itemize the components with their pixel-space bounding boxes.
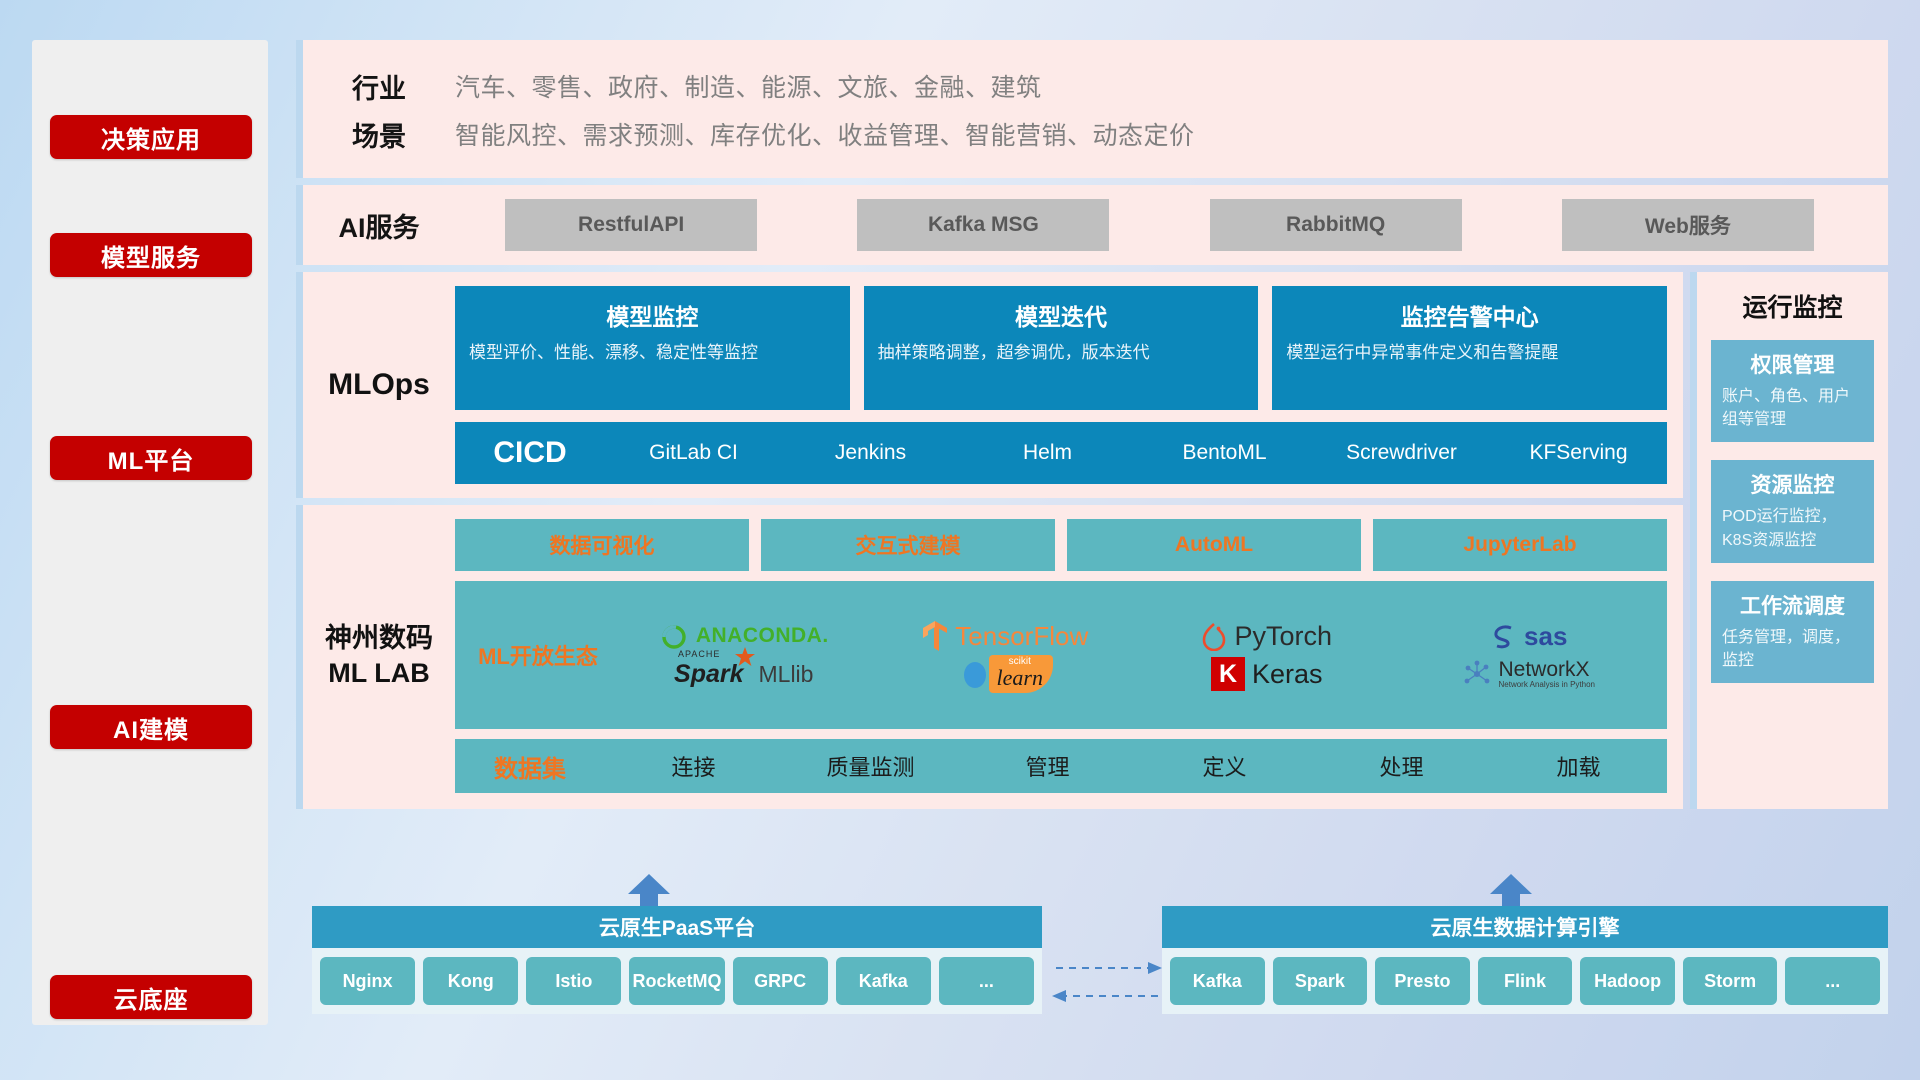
ai-service-chip-kafka-msg[interactable]: Kafka MSG bbox=[857, 199, 1109, 251]
ai-service-label: AI服务 bbox=[303, 206, 455, 245]
data-pill-flink[interactable]: Flink bbox=[1478, 957, 1573, 1005]
run-monitor-title: 运行监控 bbox=[1711, 288, 1874, 324]
platform-row: MLOps 模型监控 模型评价、性能、漂移、稳定性等监控 模型迭代 抽样策略调整… bbox=[296, 272, 1888, 809]
scenario-row: 场景 智能风控、需求预测、库存优化、收益管理、智能营销、动态定价 bbox=[303, 110, 1888, 158]
mlops-card-model-monitoring[interactable]: 模型监控 模型评价、性能、漂移、稳定性等监控 bbox=[455, 286, 850, 410]
data-pill-more[interactable]: ... bbox=[1785, 957, 1880, 1005]
scenario-label: 场景 bbox=[303, 115, 455, 154]
keras-logo: K Keras bbox=[1136, 657, 1398, 691]
tensorflow-mark-icon bbox=[922, 620, 948, 652]
card-title: 权限管理 bbox=[1722, 349, 1863, 379]
cicd-title: CICD bbox=[455, 436, 605, 470]
paas-pill-rocketmq[interactable]: RocketMQ bbox=[629, 957, 724, 1005]
industry-scenario-band: 行业 汽车、零售、政府、制造、能源、文旅、金融、建筑 场景 智能风控、需求预测、… bbox=[296, 40, 1888, 178]
card-desc: POD运行监控，K8S资源监控 bbox=[1722, 505, 1863, 551]
ml-open-ecosystem-block: ML开放生态 ANACONDA. bbox=[455, 581, 1667, 729]
rail-chip-ai-modeling[interactable]: AI建模 bbox=[50, 705, 252, 749]
dataset-item-process[interactable]: 处理 bbox=[1313, 750, 1490, 782]
rail-chip-label: AI建模 bbox=[113, 710, 189, 745]
pytorch-logo: PyTorch bbox=[1136, 621, 1398, 652]
card-title: 模型监控 bbox=[469, 298, 836, 332]
rail-chip-label: 决策应用 bbox=[101, 120, 201, 155]
ai-service-chip-list: RestfulAPI Kafka MSG RabbitMQ Web服务 bbox=[455, 199, 1888, 251]
pytorch-flame-icon bbox=[1201, 621, 1227, 651]
rail-chip-decision[interactable]: 决策应用 bbox=[50, 115, 252, 159]
cicd-item-jenkins[interactable]: Jenkins bbox=[782, 441, 959, 465]
ai-service-chip-rabbitmq[interactable]: RabbitMQ bbox=[1210, 199, 1462, 251]
networkx-label: NetworkX bbox=[1499, 659, 1596, 681]
tool-chip-interactive-modeling[interactable]: 交互式建模 bbox=[761, 519, 1055, 571]
ml-open-ecosystem-label: ML开放生态 bbox=[463, 639, 613, 671]
cicd-item-gitlab-ci[interactable]: GitLab CI bbox=[605, 441, 782, 465]
spark-apache-label: APACHE bbox=[678, 649, 720, 659]
rail-chip-ml-platform[interactable]: ML平台 bbox=[50, 436, 252, 480]
learn-label: learn bbox=[997, 667, 1043, 689]
mlops-card-alert-center[interactable]: 监控告警中心 模型运行中异常事件定义和告警提醒 bbox=[1272, 286, 1667, 410]
data-engine-pill-list: Kafka Spark Presto Flink Hadoop Storm ..… bbox=[1162, 948, 1888, 1014]
spark-star-icon bbox=[734, 646, 756, 668]
tool-chip-list: 数据可视化 交互式建模 AutoML JupyterLab bbox=[455, 519, 1667, 571]
cicd-strip: CICD GitLab CI Jenkins Helm BentoML Scre… bbox=[455, 422, 1667, 484]
monitor-card-workflow[interactable]: 工作流调度 任务管理，调度，监控 bbox=[1711, 581, 1874, 683]
mllib-label: MLlib bbox=[759, 661, 814, 688]
dataset-item-connect[interactable]: 连接 bbox=[605, 750, 782, 782]
data-pill-spark[interactable]: Spark bbox=[1273, 957, 1368, 1005]
mlops-band: MLOps 模型监控 模型评价、性能、漂移、稳定性等监控 模型迭代 抽样策略调整… bbox=[296, 272, 1683, 498]
dataset-item-load[interactable]: 加载 bbox=[1490, 750, 1667, 782]
mlops-label: MLOps bbox=[303, 286, 455, 484]
mlops-card-list: 模型监控 模型评价、性能、漂移、稳定性等监控 模型迭代 抽样策略调整，超参调优，… bbox=[455, 286, 1667, 410]
tool-chip-automl[interactable]: AutoML bbox=[1067, 519, 1361, 571]
keras-label: Keras bbox=[1252, 659, 1323, 690]
industry-label: 行业 bbox=[303, 67, 455, 106]
tensorflow-logo: TensorFlow bbox=[875, 620, 1137, 652]
industry-row: 行业 汽车、零售、政府、制造、能源、文旅、金融、建筑 bbox=[303, 62, 1888, 110]
ai-service-chip-restfulapi[interactable]: RestfulAPI bbox=[505, 199, 757, 251]
data-engine-title: 云原生数据计算引擎 bbox=[1162, 906, 1888, 948]
networkx-tagline: Network Analysis in Python bbox=[1499, 681, 1596, 689]
bidirectional-dashed-connector bbox=[1052, 956, 1162, 1008]
card-desc: 账户、角色、用户组等管理 bbox=[1722, 385, 1863, 431]
paas-pill-grpc[interactable]: GRPC bbox=[733, 957, 828, 1005]
networkx-logo: NetworkX Network Analysis in Python bbox=[1398, 659, 1660, 689]
card-title: 模型迭代 bbox=[878, 298, 1245, 332]
sas-swirl-icon bbox=[1489, 622, 1517, 650]
paas-pill-nginx[interactable]: Nginx bbox=[320, 957, 415, 1005]
dataset-strip: 数据集 连接 质量监测 管理 定义 处理 加载 bbox=[455, 739, 1667, 793]
pytorch-label: PyTorch bbox=[1234, 621, 1332, 652]
cloud-native-paas-group: 云原生PaaS平台 Nginx Kong Istio RocketMQ GRPC… bbox=[312, 906, 1042, 1014]
dataset-item-manage[interactable]: 管理 bbox=[959, 750, 1136, 782]
ai-modeling-label-line1: 神州数码 bbox=[325, 621, 433, 656]
cicd-item-helm[interactable]: Helm bbox=[959, 441, 1136, 465]
rail-chip-label: 模型服务 bbox=[101, 238, 201, 273]
paas-pill-more[interactable]: ... bbox=[939, 957, 1034, 1005]
paas-pill-istio[interactable]: Istio bbox=[526, 957, 621, 1005]
tensorflow-label: TensorFlow bbox=[955, 621, 1088, 652]
cicd-item-kfserving[interactable]: KFServing bbox=[1490, 441, 1667, 465]
tool-chip-jupyterlab[interactable]: JupyterLab bbox=[1373, 519, 1667, 571]
anaconda-label: ANACONDA. bbox=[696, 624, 829, 648]
cloud-native-data-engine-group: 云原生数据计算引擎 Kafka Spark Presto Flink Hadoo… bbox=[1162, 906, 1888, 1014]
spark-mllib-logo: APACHE Spark MLlib bbox=[613, 660, 875, 689]
main-diagram-column: 行业 汽车、零售、政府、制造、能源、文旅、金融、建筑 场景 智能风控、需求预测、… bbox=[296, 40, 1888, 809]
data-pill-presto[interactable]: Presto bbox=[1375, 957, 1470, 1005]
sas-logo: sas bbox=[1398, 621, 1660, 652]
anaconda-mark-icon bbox=[659, 621, 689, 651]
cicd-item-screwdriver[interactable]: Screwdriver bbox=[1313, 441, 1490, 465]
scenario-values: 智能风控、需求预测、库存优化、收益管理、智能营销、动态定价 bbox=[455, 116, 1195, 152]
card-title: 资源监控 bbox=[1722, 469, 1863, 499]
dataset-title: 数据集 bbox=[455, 749, 605, 784]
mlops-card-model-iteration[interactable]: 模型迭代 抽样策略调整，超参调优，版本迭代 bbox=[864, 286, 1259, 410]
data-pill-kafka[interactable]: Kafka bbox=[1170, 957, 1265, 1005]
card-title: 工作流调度 bbox=[1722, 590, 1863, 620]
card-desc: 模型运行中异常事件定义和告警提醒 bbox=[1286, 341, 1653, 366]
monitor-card-permission[interactable]: 权限管理 账户、角色、用户组等管理 bbox=[1711, 340, 1874, 442]
cicd-item-bentoml[interactable]: BentoML bbox=[1136, 441, 1313, 465]
card-desc: 抽样策略调整，超参调优，版本迭代 bbox=[878, 341, 1245, 366]
data-pill-hadoop[interactable]: Hadoop bbox=[1580, 957, 1675, 1005]
dataset-item-quality-monitor[interactable]: 质量监测 bbox=[782, 750, 959, 782]
industry-values: 汽车、零售、政府、制造、能源、文旅、金融、建筑 bbox=[455, 68, 1042, 104]
dataset-item-define[interactable]: 定义 bbox=[1136, 750, 1313, 782]
paas-pill-kong[interactable]: Kong bbox=[423, 957, 518, 1005]
paas-title: 云原生PaaS平台 bbox=[312, 906, 1042, 948]
cloud-foundation-section: 云原生PaaS平台 Nginx Kong Istio RocketMQ GRPC… bbox=[296, 878, 1888, 1038]
paas-pill-list: Nginx Kong Istio RocketMQ GRPC Kafka ... bbox=[312, 948, 1042, 1014]
ai-service-band: AI服务 RestfulAPI Kafka MSG RabbitMQ Web服务 bbox=[296, 185, 1888, 265]
rail-chip-label: 云底座 bbox=[114, 980, 189, 1015]
left-rail: 决策应用 模型服务 ML平台 AI建模 云底座 bbox=[32, 40, 268, 1025]
rail-chip-cloud-foundation[interactable]: 云底座 bbox=[50, 975, 252, 1019]
data-pill-storm[interactable]: Storm bbox=[1683, 957, 1778, 1005]
run-monitor-panel: 运行监控 权限管理 账户、角色、用户组等管理 资源监控 POD运行监控，K8S资… bbox=[1690, 272, 1888, 809]
rail-chip-label: ML平台 bbox=[108, 441, 195, 476]
rail-chip-model-service[interactable]: 模型服务 bbox=[50, 233, 252, 277]
scikit-blue-blob-icon bbox=[958, 657, 992, 691]
monitor-card-resource[interactable]: 资源监控 POD运行监控，K8S资源监控 bbox=[1711, 460, 1874, 562]
ai-modeling-band: 神州数码 ML LAB 数据可视化 交互式建模 AutoML JupyterLa… bbox=[296, 505, 1683, 809]
ai-service-chip-web[interactable]: Web服务 bbox=[1562, 199, 1814, 251]
sas-label: sas bbox=[1524, 621, 1567, 652]
card-desc: 模型评价、性能、漂移、稳定性等监控 bbox=[469, 341, 836, 366]
card-title: 监控告警中心 bbox=[1286, 298, 1653, 332]
keras-k-mark: K bbox=[1219, 660, 1237, 689]
ai-modeling-label: 神州数码 ML LAB bbox=[303, 519, 455, 793]
tool-chip-data-visualization[interactable]: 数据可视化 bbox=[455, 519, 749, 571]
networkx-graph-icon bbox=[1462, 659, 1492, 689]
ecosystem-logo-grid: ANACONDA. TensorFlow bbox=[613, 617, 1659, 693]
scikit-learn-logo: scikit learn bbox=[875, 655, 1137, 693]
card-desc: 任务管理，调度，监控 bbox=[1722, 626, 1863, 672]
paas-pill-kafka[interactable]: Kafka bbox=[836, 957, 931, 1005]
ai-modeling-label-line2: ML LAB bbox=[325, 656, 433, 691]
